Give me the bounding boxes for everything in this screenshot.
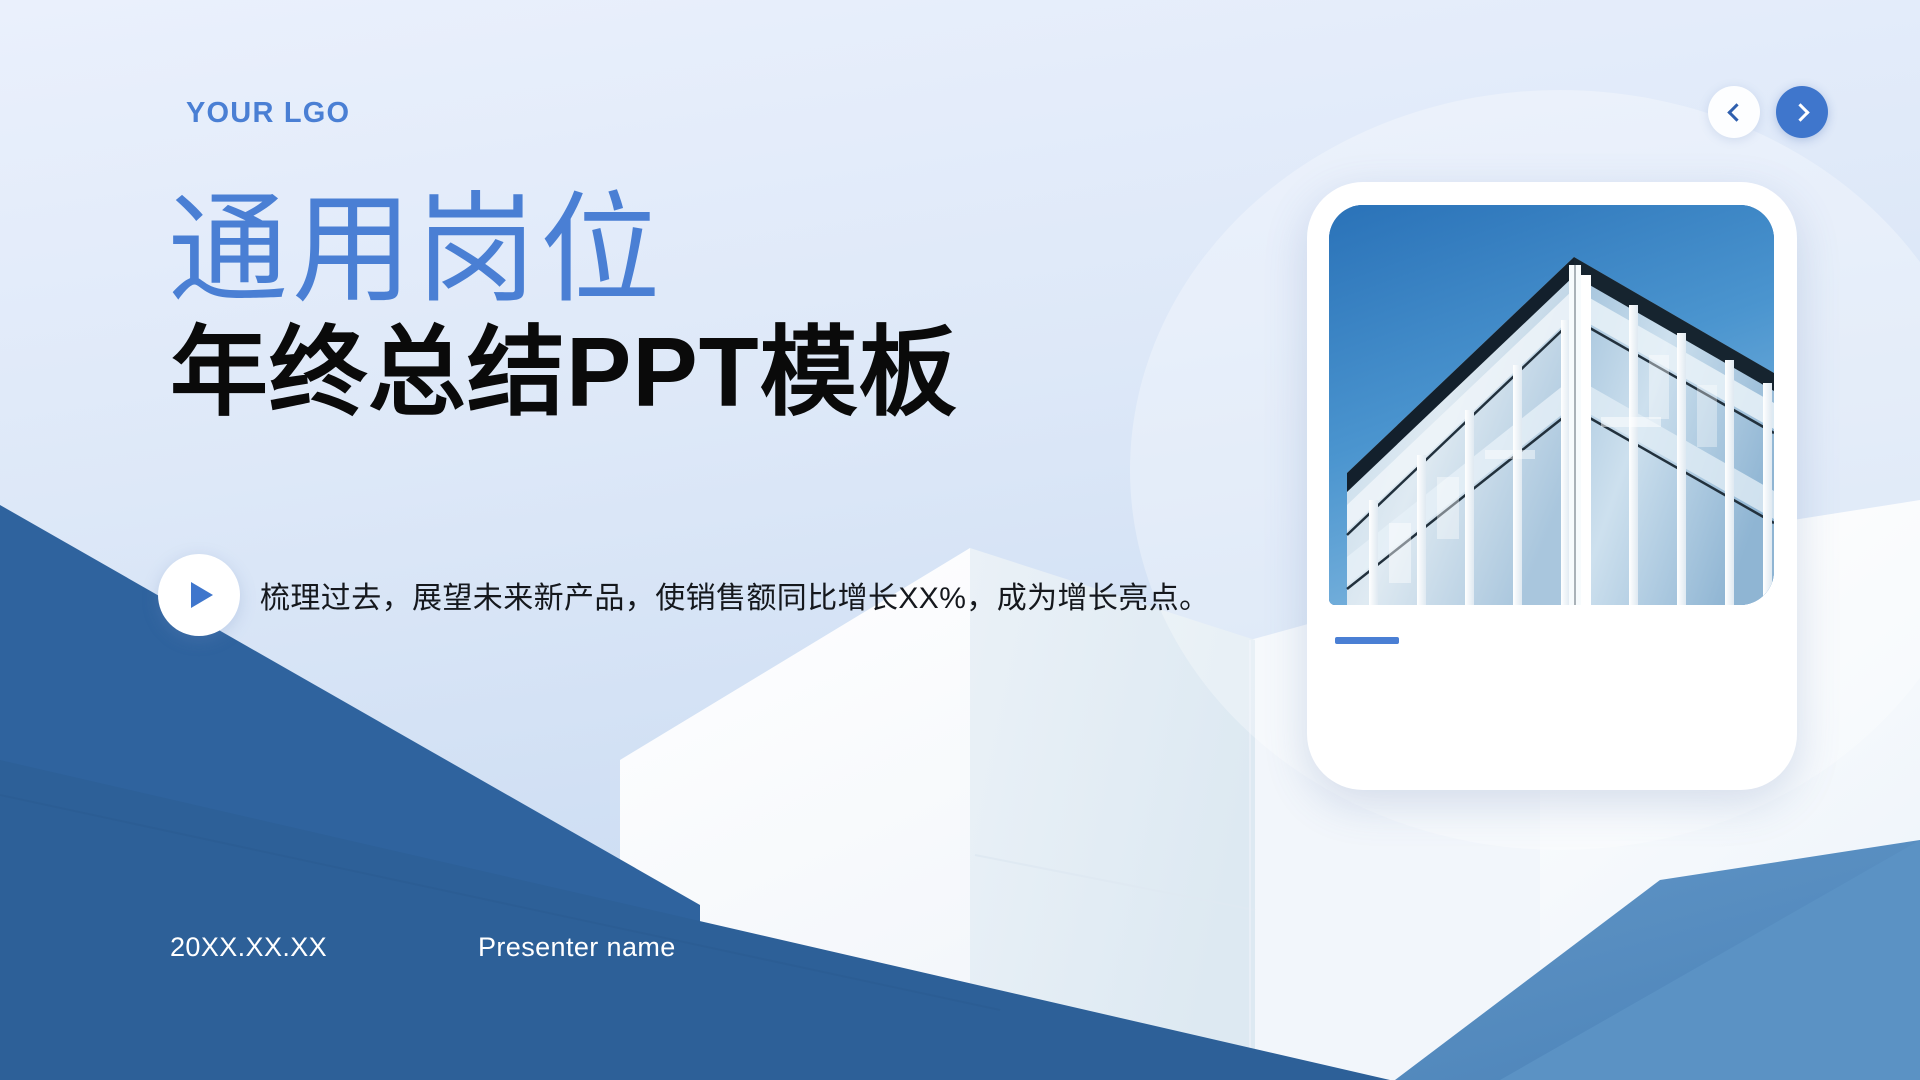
footer-date: 20XX.XX.XX (170, 932, 327, 963)
hero-subtitle-text: 梳理过去，展望未来新产品，使销售额同比增长XX%，成为增长亮点。 (260, 573, 1210, 617)
footer-presenter-name: Presenter name (478, 932, 676, 963)
chevron-left-icon (1727, 103, 1745, 121)
hero-title-secondary: 通用岗位 (168, 186, 664, 316)
play-icon (191, 582, 213, 608)
hero-subtitle-row: 梳理过去，展望未来新产品，使销售额同比增长XX%，成为增长亮点。 (158, 554, 1210, 636)
hero-title-primary: 年终总结PPT模板 (170, 320, 958, 426)
building-photo (1329, 205, 1774, 605)
photo-card (1307, 182, 1797, 790)
slide-navigation (1708, 86, 1828, 138)
previous-slide-button[interactable] (1708, 86, 1760, 138)
logo-text: YOUR LGO (186, 97, 350, 130)
chevron-right-icon (1791, 103, 1809, 121)
play-button[interactable] (158, 554, 240, 636)
next-slide-button[interactable] (1776, 86, 1828, 138)
accent-bar (1335, 637, 1399, 644)
building-photo-illustration (1329, 205, 1774, 605)
presentation-slide: YOUR LGO 通用岗位 年终总结PPT模板 梳理过去，展望未来新产品，使销售… (0, 0, 1920, 1080)
